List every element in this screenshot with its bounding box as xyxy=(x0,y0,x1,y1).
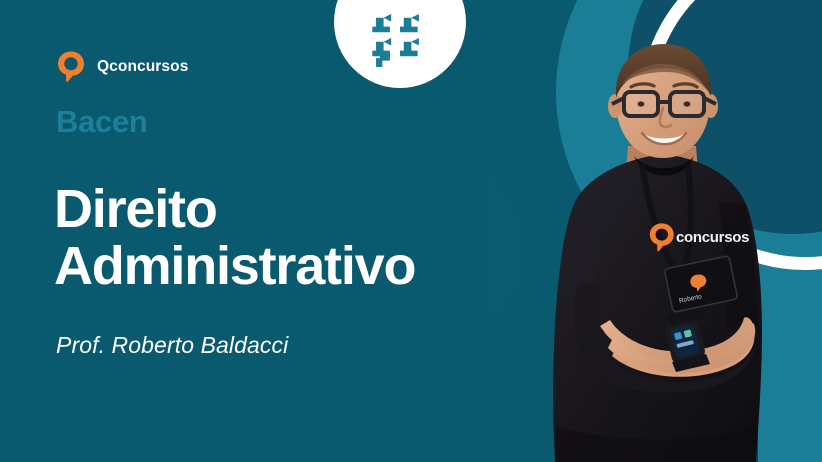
page-title-line-1: Direito xyxy=(54,181,415,238)
bacen-arrows-icon xyxy=(368,14,432,72)
presenter-name: Prof. Roberto Baldacci xyxy=(56,334,288,357)
brand-name: Qconcursos xyxy=(97,59,188,75)
qconcursos-q-icon xyxy=(56,50,86,83)
brand-lockup: Qconcursos xyxy=(56,50,188,83)
course-eyebrow-bacen: Bacen xyxy=(56,106,148,137)
course-banner: Qconcursos Bacen Direito Administrativo … xyxy=(0,0,822,462)
instructor-portrait: concursos Roberto xyxy=(500,26,822,462)
page-title: Direito Administrativo xyxy=(54,181,415,295)
svg-text:concursos: concursos xyxy=(676,229,749,246)
page-title-line-2: Administrativo xyxy=(54,238,415,295)
